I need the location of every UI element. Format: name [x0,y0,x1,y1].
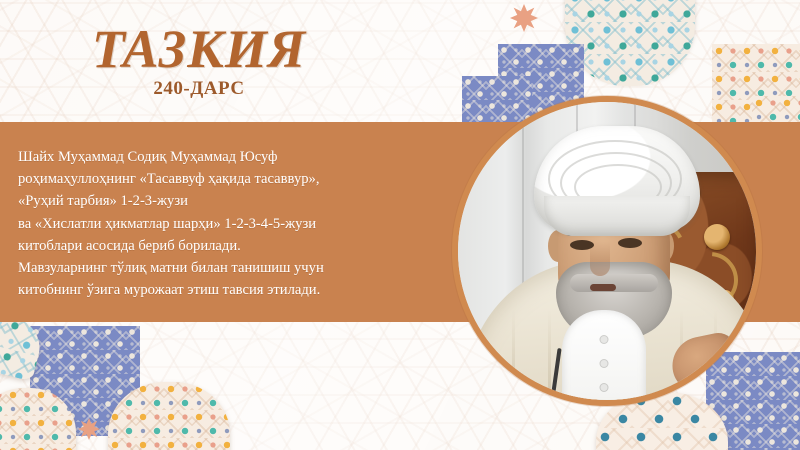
lesson-number: 240-ДАРС [34,78,364,100]
page-title: ТАЗКИЯ [34,22,364,76]
star-salmon-bottom-icon [78,418,100,440]
poster-canvas: ТАЗКИЯ 240-ДАРС [0,0,800,450]
portrait-frame [452,96,762,406]
photo-nose [590,242,610,276]
photo-eye [570,240,594,250]
star-salmon-top-icon [510,4,538,32]
photo-mouth [590,284,616,291]
photo-turban-base [544,196,690,236]
description-text-block: Шайх Муҳаммад Содиқ Муҳаммад Юсуф роҳима… [0,126,470,318]
description-text: Шайх Муҳаммад Содиқ Муҳаммад Юсуф роҳима… [18,146,456,301]
photo-collar [562,310,646,400]
photo-eye [618,238,642,248]
portrait-photo [458,102,756,400]
title-block: ТАЗКИЯ 240-ДАРС [34,22,364,100]
